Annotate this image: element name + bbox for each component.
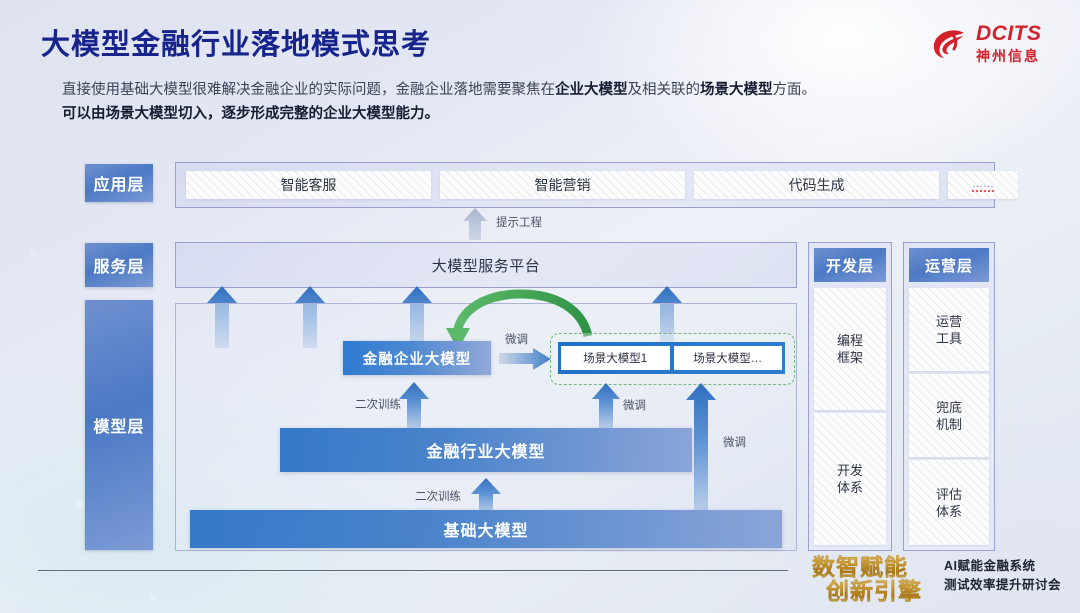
arrow-label-prompt-engineering: 提示工程 — [496, 214, 542, 230]
event-line-2: 测试效率提升研讨会 — [944, 578, 1061, 592]
dev-cell-programming-framework[interactable]: 编程 框架 — [814, 288, 886, 410]
slide-canvas: 大模型金融行业落地模式思考 直接使用基础大模型很难解决金融企业的实际问题，金融企… — [0, 0, 1080, 613]
subtitle-part-3: 方面。 — [773, 82, 817, 98]
subtitle-emph-scene: 场景大模型 — [700, 82, 773, 98]
application-layer-panel: 智能客服 智能营销 代码生成 …… — [175, 162, 995, 208]
ops-cell-operation-tools[interactable]: 运营 工具 — [909, 288, 989, 371]
ops-cell-evaluation-system[interactable]: 评估 体系 — [909, 460, 989, 545]
page-subtitle: 直接使用基础大模型很难解决金融企业的实际问题，金融企业落地需要聚焦在企业大模型及… — [62, 78, 1022, 126]
arrow-enterprise-to-scene — [499, 348, 551, 370]
arrow-label-fine-tune-1: 微调 — [505, 331, 528, 347]
app-tile-more[interactable]: …… — [948, 171, 1018, 199]
service-layer-panel: 大模型服务平台 — [175, 242, 797, 288]
footer-divider — [38, 570, 788, 571]
arrow-label-fine-tune-2: 微调 — [623, 397, 646, 413]
arrow-label-fine-tune-3: 微调 — [723, 434, 746, 450]
subtitle-line-2: 可以由场景大模型切入，逐步形成完整的企业大模型能力。 — [62, 106, 439, 122]
arrow-label-second-training-2: 二次训练 — [415, 488, 461, 504]
scene-model-container: 场景大模型1 场景大模型… — [558, 342, 785, 374]
layer-label-service: 服务层 — [85, 243, 153, 287]
scene-model-tile-2[interactable]: 场景大模型… — [674, 346, 783, 370]
operation-layer-header: 运营层 — [909, 248, 989, 282]
app-tile-smart-service[interactable]: 智能客服 — [186, 171, 431, 199]
ellipsis-label: …… — [972, 179, 994, 192]
brand-line-2: 创新引擎 — [826, 572, 922, 606]
bokeh-dot — [75, 500, 84, 509]
ops-cell-fallback-mechanism[interactable]: 兜底 机制 — [909, 374, 989, 457]
event-title: AI赋能金融系统 测试效率提升研讨会 — [944, 557, 1061, 595]
page-title: 大模型金融行业落地模式思考 — [41, 21, 431, 63]
model-box-industry[interactable]: 金融行业大模型 — [280, 428, 692, 472]
layer-label-application: 应用层 — [85, 164, 153, 202]
bokeh-dot — [30, 250, 38, 258]
development-layer-panel: 开发层 编程 框架 开发 体系 — [808, 242, 892, 551]
arrow-prompt-engineering — [462, 208, 488, 240]
logo-chinese-name: 神州信息 — [976, 46, 1040, 66]
model-box-base[interactable]: 基础大模型 — [190, 510, 782, 548]
subtitle-emph-enterprise: 企业大模型 — [555, 82, 628, 98]
development-layer-header: 开发层 — [814, 248, 886, 282]
logo-latin-name: DCITS — [976, 22, 1042, 46]
operation-layer-panel: 运营层 运营 工具 兜底 机制 评估 体系 — [903, 242, 995, 551]
event-line-1: AI赋能金融系统 — [944, 559, 1036, 573]
model-box-enterprise[interactable]: 金融企业大模型 — [343, 341, 491, 375]
event-brand-logo: 数智赋能 创新引擎 — [812, 548, 932, 606]
dev-cell-dev-system[interactable]: 开发 体系 — [814, 413, 886, 545]
subtitle-part-1: 直接使用基础大模型很难解决金融企业的实际问题，金融企业落地需要聚焦在 — [62, 82, 555, 98]
layer-label-model: 模型层 — [85, 300, 153, 550]
bokeh-dot — [150, 595, 156, 601]
swirl-icon — [930, 24, 970, 64]
app-tile-smart-marketing[interactable]: 智能营销 — [440, 171, 685, 199]
arrow-label-second-training-1: 二次训练 — [355, 396, 401, 412]
subtitle-part-2: 及相关联的 — [628, 82, 701, 98]
scene-model-tile-1[interactable]: 场景大模型1 — [561, 346, 670, 370]
service-platform-label: 大模型服务平台 — [432, 255, 541, 276]
company-logo: DCITS 神州信息 — [930, 22, 1065, 68]
app-tile-code-generation[interactable]: 代码生成 — [694, 171, 939, 199]
